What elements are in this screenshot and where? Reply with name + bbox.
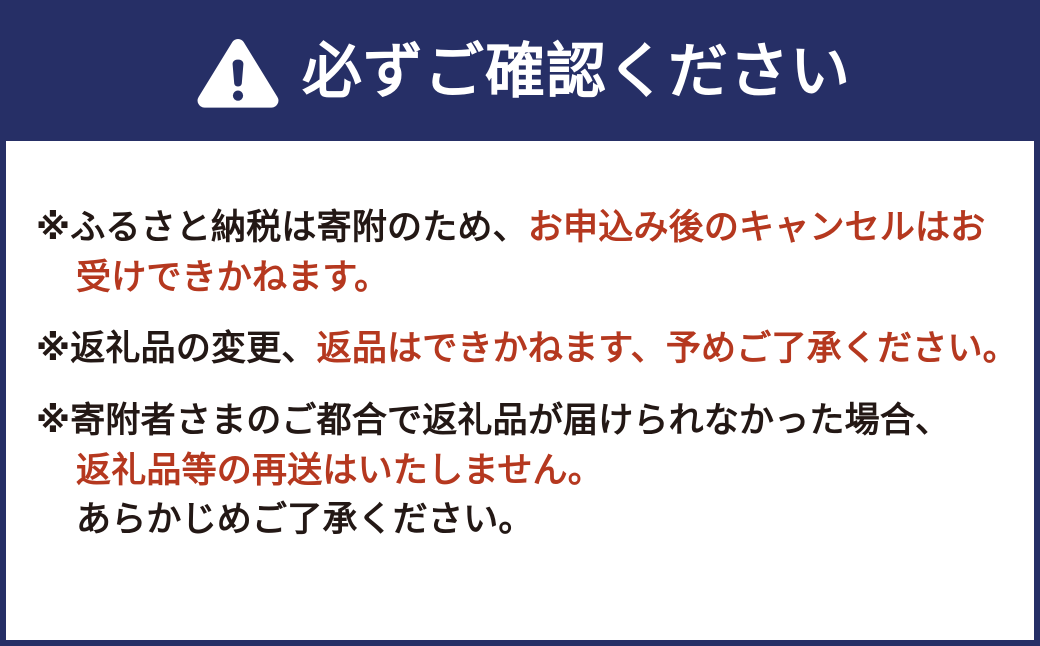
- warning-triangle-exclamation-icon: [196, 37, 280, 109]
- notice-text-red: 返品はできかねます、予めご了承ください。: [317, 329, 1018, 368]
- notice-item: ※返礼品の変更、返品はできかねます、予めご了承ください。: [36, 324, 1018, 374]
- notice-marker: ※: [36, 208, 70, 247]
- notice-body: ※ふるさと納税は寄附のため、お申込み後のキャンセルはお受けできかねます。 ※返礼…: [0, 141, 1040, 646]
- notice-marker: ※: [36, 329, 70, 368]
- notice-item: ※ふるさと納税は寄附のため、お申込み後のキャンセルはお受けできかねます。: [36, 203, 1018, 302]
- notice-text-black: 寄附者さまのご都合で返礼品が届けられなかった場合、: [70, 401, 950, 440]
- notice-text-red: 返礼品等の再送はいたしません。: [76, 451, 603, 490]
- notice-text-black: 返礼品の変更、: [70, 329, 316, 368]
- notice-text-black: あらかじめご了承ください。: [76, 500, 534, 539]
- notice-header: 必ずご確認ください: [0, 0, 1040, 141]
- notice-marker: ※: [36, 401, 70, 440]
- notice-text-red: お申込み後のキャンセルは: [528, 208, 950, 247]
- page-title: 必ずご確認ください: [302, 42, 851, 102]
- notice-text-black: ふるさと納税は寄附のため、: [70, 208, 528, 247]
- notice-item: ※寄附者さまのご都合で返礼品が届けられなかった場合、返礼品等の再送はいたしません…: [36, 396, 1018, 545]
- notice-banner: 必ずご確認ください ※ふるさと納税は寄附のため、お申込み後のキャンセルはお受けで…: [0, 0, 1040, 646]
